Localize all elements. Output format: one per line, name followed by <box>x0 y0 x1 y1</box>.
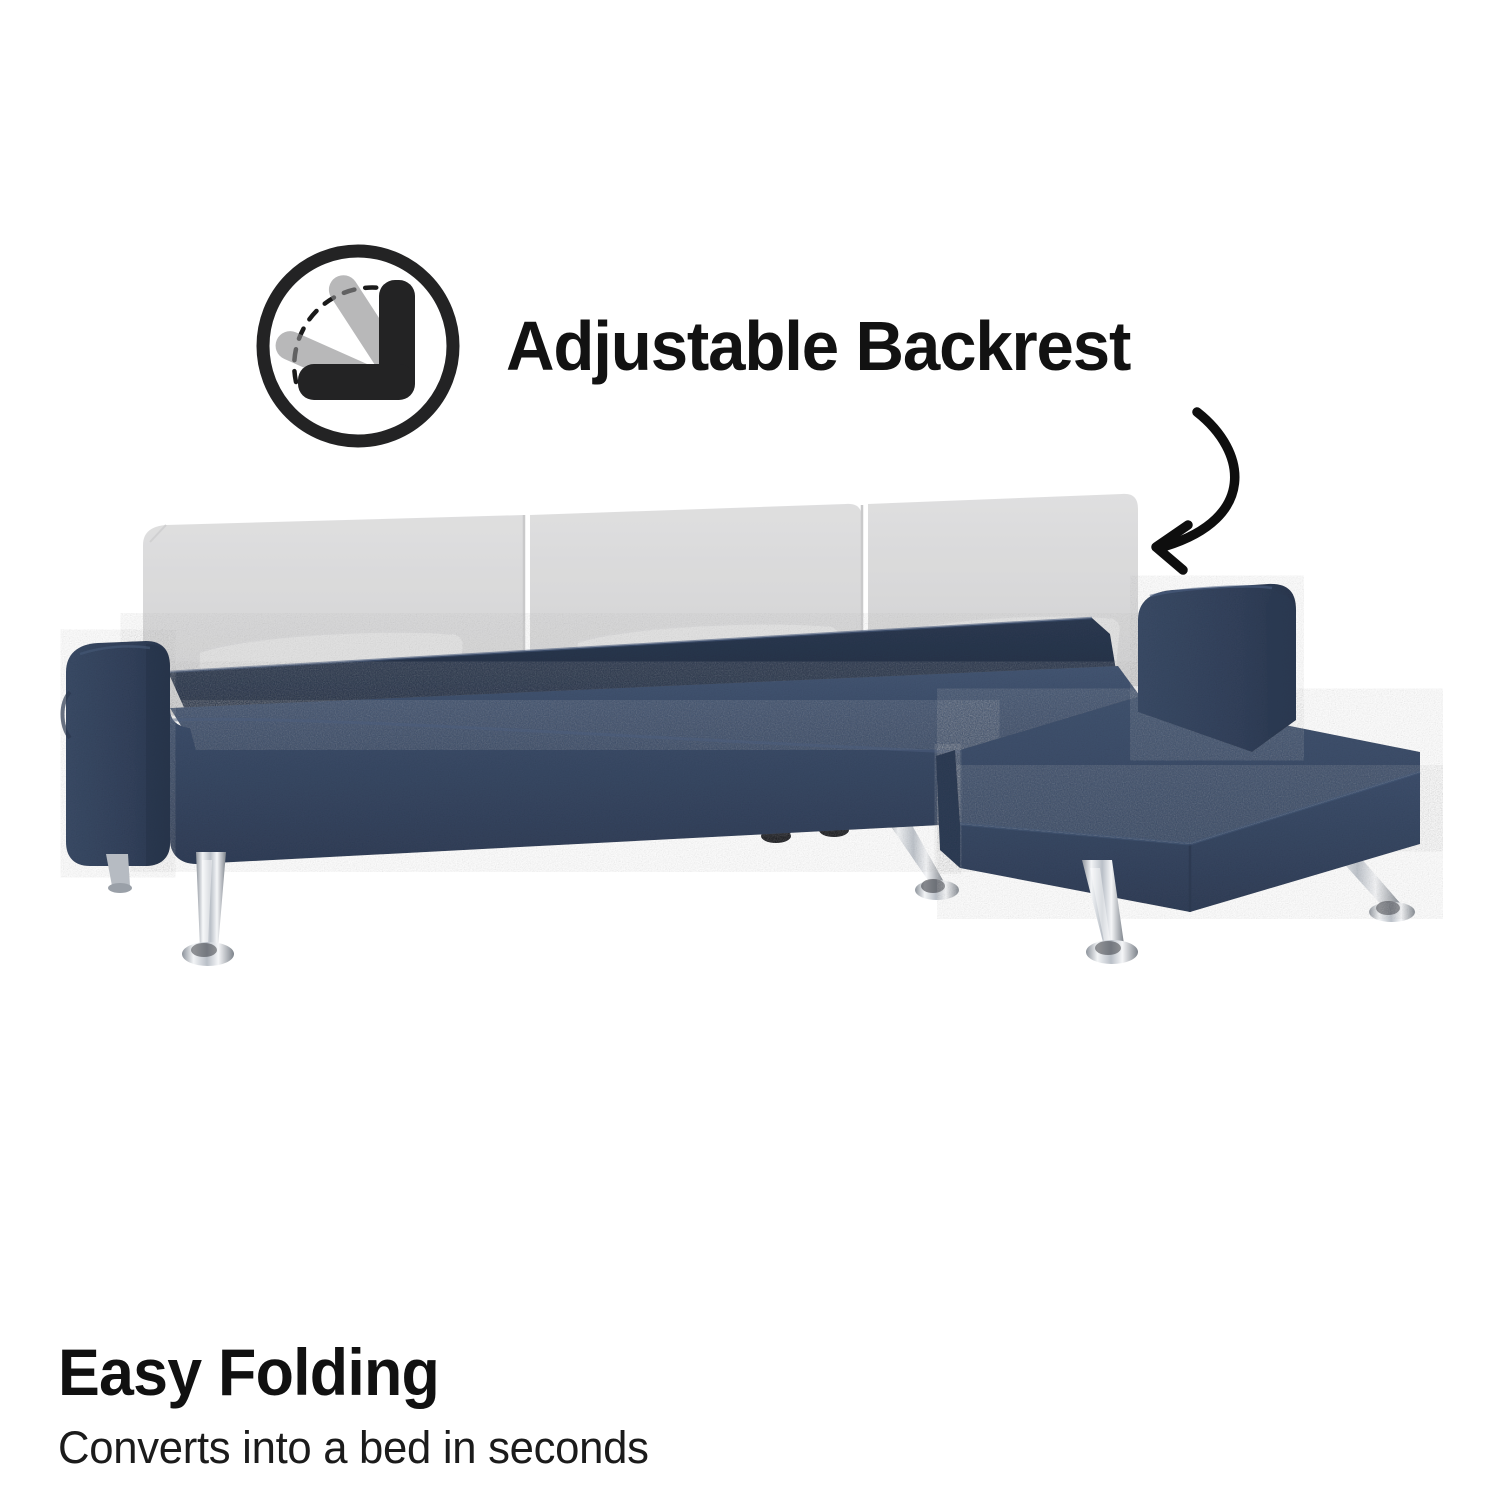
feature-title: Adjustable Backrest <box>506 311 1130 381</box>
product-feature-image: Adjustable Backrest <box>0 0 1500 1500</box>
sofa-illustration <box>0 420 1500 1040</box>
chrome-leg <box>106 854 132 893</box>
caption-title: Easy Folding <box>58 1338 1103 1407</box>
caption-block: Easy Folding Converts into a bed in seco… <box>58 1338 1158 1472</box>
caption-subtitle: Converts into a bed in seconds <box>58 1423 1125 1473</box>
chrome-leg <box>182 852 234 966</box>
